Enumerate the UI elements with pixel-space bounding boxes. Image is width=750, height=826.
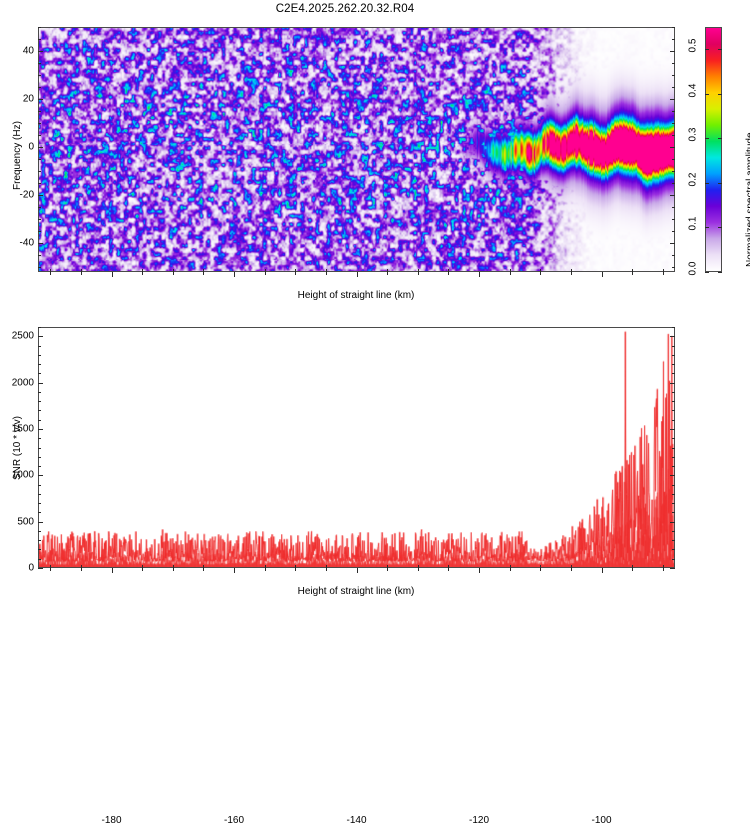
- x-minor-tick: [295, 272, 296, 275]
- y-minor-tick: [38, 364, 41, 365]
- x-tick-label: -160: [224, 815, 244, 826]
- snr-y-axis-title: SNR (10 * v/v): [12, 416, 23, 480]
- y-major-tick: [38, 336, 43, 337]
- y-major-tick: [670, 522, 675, 523]
- y-minor-tick: [672, 171, 675, 172]
- x-minor-tick: [418, 272, 419, 275]
- y-minor-tick: [672, 27, 675, 28]
- colorbar-tick: [705, 272, 709, 273]
- y-minor-tick: [672, 392, 675, 393]
- y-tick-label: 20: [6, 94, 34, 105]
- x-minor-tick: [418, 269, 419, 272]
- y-minor-tick: [38, 39, 41, 40]
- y-major-tick: [38, 383, 43, 384]
- y-tick-label: 2000: [6, 377, 34, 388]
- y-minor-tick: [38, 346, 41, 347]
- y-minor-tick: [672, 87, 675, 88]
- colorbar-tick: [718, 94, 722, 95]
- colorbar-tick-label: 0.1: [688, 214, 699, 234]
- colorbar-tick: [718, 49, 722, 50]
- x-minor-tick: [142, 272, 143, 275]
- y-major-tick: [670, 51, 675, 52]
- x-minor-tick: [326, 565, 327, 568]
- x-minor-tick: [173, 568, 174, 571]
- y-minor-tick: [38, 401, 41, 402]
- y-minor-tick: [38, 159, 41, 160]
- x-minor-tick: [50, 568, 51, 571]
- y-major-tick: [38, 429, 43, 430]
- spectrogram-image: [39, 28, 674, 271]
- x-major-tick: [112, 568, 113, 573]
- y-tick-label: 0: [6, 563, 34, 574]
- x-major-tick: [479, 272, 480, 277]
- y-major-tick: [670, 383, 675, 384]
- colorbar-tick: [718, 183, 722, 184]
- x-minor-tick: [81, 565, 82, 568]
- x-minor-tick: [663, 269, 664, 272]
- y-minor-tick: [38, 531, 41, 532]
- y-minor-tick: [672, 466, 675, 467]
- x-minor-tick: [295, 568, 296, 571]
- y-minor-tick: [38, 219, 41, 220]
- y-minor-tick: [38, 87, 41, 88]
- y-tick-label: -40: [6, 238, 34, 249]
- colorbar-tick: [705, 227, 709, 228]
- x-minor-tick: [142, 565, 143, 568]
- y-minor-tick: [672, 355, 675, 356]
- colorbar-tick-label: 0.5: [688, 36, 699, 56]
- y-minor-tick: [672, 503, 675, 504]
- colorbar-title: Normalized spectral amplitude: [745, 132, 750, 267]
- figure-canvas: C2E4.2025.262.20.32.R04 -180-160-140-120…: [0, 0, 750, 600]
- x-major-tick: [234, 568, 235, 573]
- x-minor-tick: [510, 272, 511, 275]
- colorbar-tick: [705, 94, 709, 95]
- y-minor-tick: [672, 63, 675, 64]
- x-minor-tick: [295, 565, 296, 568]
- y-major-tick: [38, 243, 43, 244]
- x-minor-tick: [50, 565, 51, 568]
- y-major-tick: [38, 99, 43, 100]
- y-minor-tick: [38, 255, 41, 256]
- colorbar-tick: [718, 227, 722, 228]
- y-minor-tick: [38, 355, 41, 356]
- y-major-tick: [670, 147, 675, 148]
- x-major-tick: [357, 568, 358, 573]
- colorbar-group: 0.00.10.20.30.40.5 Normalized spectral a…: [705, 27, 750, 272]
- x-minor-tick: [448, 269, 449, 272]
- x-minor-tick: [173, 269, 174, 272]
- y-minor-tick: [38, 559, 41, 560]
- y-minor-tick: [38, 457, 41, 458]
- x-major-tick: [357, 272, 358, 277]
- x-tick-label: -140: [346, 815, 366, 826]
- y-minor-tick: [38, 123, 41, 124]
- y-minor-tick: [38, 494, 41, 495]
- x-minor-tick: [448, 568, 449, 571]
- y-minor-tick: [38, 512, 41, 513]
- x-major-tick: [602, 272, 603, 277]
- x-minor-tick: [326, 269, 327, 272]
- colorbar-tick-label: 0.0: [688, 259, 699, 279]
- y-minor-tick: [672, 183, 675, 184]
- spectrogram-plot-area: [38, 27, 675, 272]
- x-minor-tick: [632, 568, 633, 571]
- spectrogram-y-axis-title: Frequency (Hz): [12, 121, 23, 190]
- colorbar-tick: [718, 272, 722, 273]
- x-minor-tick: [510, 565, 511, 568]
- y-tick-label: 2500: [6, 331, 34, 342]
- y-minor-tick: [38, 63, 41, 64]
- y-tick-label: -20: [6, 190, 34, 201]
- x-minor-tick: [571, 269, 572, 272]
- y-minor-tick: [38, 207, 41, 208]
- spectrogram-panel: -180-160-140-120-100 -40-2002040: [38, 27, 675, 272]
- x-minor-tick: [663, 565, 664, 568]
- y-minor-tick: [38, 410, 41, 411]
- y-minor-tick: [38, 267, 41, 268]
- x-minor-tick: [418, 565, 419, 568]
- y-minor-tick: [672, 327, 675, 328]
- y-minor-tick: [38, 231, 41, 232]
- snr-line-series: [39, 328, 674, 567]
- y-minor-tick: [38, 503, 41, 504]
- colorbar-tick: [705, 49, 709, 50]
- y-minor-tick: [672, 231, 675, 232]
- x-major-tick: [112, 272, 113, 277]
- x-minor-tick: [173, 272, 174, 275]
- x-minor-tick: [663, 568, 664, 571]
- x-tick-label: -120: [469, 815, 489, 826]
- x-minor-tick: [81, 568, 82, 571]
- y-tick-label: 500: [6, 516, 34, 527]
- y-minor-tick: [672, 346, 675, 347]
- x-minor-tick: [632, 272, 633, 275]
- y-minor-tick: [672, 111, 675, 112]
- spectrogram-x-axis-title: Height of straight line (km): [298, 290, 415, 301]
- y-major-tick: [670, 429, 675, 430]
- x-minor-tick: [418, 568, 419, 571]
- y-minor-tick: [38, 111, 41, 112]
- y-minor-tick: [672, 123, 675, 124]
- y-minor-tick: [672, 135, 675, 136]
- x-minor-tick: [387, 565, 388, 568]
- x-minor-tick: [632, 269, 633, 272]
- x-minor-tick: [265, 272, 266, 275]
- colorbar-tick: [705, 138, 709, 139]
- y-minor-tick: [38, 485, 41, 486]
- x-minor-tick: [387, 568, 388, 571]
- y-major-tick: [670, 99, 675, 100]
- colorbar-tick-label: 0.4: [688, 80, 699, 100]
- y-minor-tick: [38, 420, 41, 421]
- x-minor-tick: [387, 269, 388, 272]
- y-major-tick: [670, 475, 675, 476]
- x-minor-tick: [326, 568, 327, 571]
- y-minor-tick: [672, 39, 675, 40]
- x-minor-tick: [50, 272, 51, 275]
- y-minor-tick: [672, 494, 675, 495]
- x-minor-tick: [81, 269, 82, 272]
- x-minor-tick: [142, 568, 143, 571]
- y-minor-tick: [672, 373, 675, 374]
- y-minor-tick: [38, 448, 41, 449]
- x-minor-tick: [571, 568, 572, 571]
- colorbar-tick-label: 0.2: [688, 169, 699, 189]
- y-major-tick: [38, 475, 43, 476]
- y-minor-tick: [38, 373, 41, 374]
- y-major-tick: [38, 51, 43, 52]
- x-major-tick: [602, 568, 603, 573]
- x-minor-tick: [448, 272, 449, 275]
- y-minor-tick: [672, 267, 675, 268]
- y-minor-tick: [672, 540, 675, 541]
- x-minor-tick: [203, 568, 204, 571]
- y-minor-tick: [38, 135, 41, 136]
- y-minor-tick: [672, 75, 675, 76]
- colorbar-tick: [718, 138, 722, 139]
- x-minor-tick: [510, 269, 511, 272]
- y-minor-tick: [38, 392, 41, 393]
- x-minor-tick: [326, 272, 327, 275]
- x-minor-tick: [571, 565, 572, 568]
- snr-plot-area: [38, 327, 675, 568]
- y-minor-tick: [672, 485, 675, 486]
- y-major-tick: [38, 147, 43, 148]
- x-minor-tick: [540, 568, 541, 571]
- x-minor-tick: [663, 272, 664, 275]
- y-minor-tick: [38, 171, 41, 172]
- y-major-tick: [670, 195, 675, 196]
- y-major-tick: [38, 568, 43, 569]
- y-minor-tick: [672, 410, 675, 411]
- y-tick-label: 40: [6, 46, 34, 57]
- colorbar-tick: [705, 183, 709, 184]
- y-major-tick: [670, 243, 675, 244]
- x-minor-tick: [265, 568, 266, 571]
- x-minor-tick: [50, 269, 51, 272]
- x-minor-tick: [203, 272, 204, 275]
- x-minor-tick: [203, 565, 204, 568]
- y-major-tick: [38, 195, 43, 196]
- y-minor-tick: [672, 364, 675, 365]
- y-minor-tick: [672, 207, 675, 208]
- x-minor-tick: [173, 565, 174, 568]
- x-minor-tick: [203, 269, 204, 272]
- x-tick-label: -100: [591, 815, 611, 826]
- y-minor-tick: [672, 438, 675, 439]
- x-minor-tick: [510, 568, 511, 571]
- snr-panel: -180-160-140-120-100 0500100015002000250…: [38, 327, 675, 568]
- x-minor-tick: [448, 565, 449, 568]
- y-minor-tick: [672, 549, 675, 550]
- x-minor-tick: [295, 269, 296, 272]
- x-minor-tick: [632, 565, 633, 568]
- y-minor-tick: [672, 559, 675, 560]
- x-minor-tick: [142, 269, 143, 272]
- y-minor-tick: [38, 438, 41, 439]
- y-major-tick: [670, 336, 675, 337]
- colorbar-scale: [705, 27, 722, 272]
- y-minor-tick: [672, 512, 675, 513]
- y-major-tick: [38, 522, 43, 523]
- y-minor-tick: [672, 457, 675, 458]
- y-minor-tick: [38, 27, 41, 28]
- page-title: C2E4.2025.262.20.32.R04: [0, 3, 690, 15]
- y-major-tick: [670, 568, 675, 569]
- x-tick-label: -180: [101, 815, 121, 826]
- x-minor-tick: [540, 565, 541, 568]
- y-minor-tick: [672, 448, 675, 449]
- y-minor-tick: [672, 219, 675, 220]
- y-minor-tick: [672, 159, 675, 160]
- x-minor-tick: [265, 565, 266, 568]
- y-minor-tick: [38, 327, 41, 328]
- x-minor-tick: [540, 269, 541, 272]
- x-minor-tick: [81, 272, 82, 275]
- x-minor-tick: [387, 272, 388, 275]
- y-minor-tick: [38, 540, 41, 541]
- x-minor-tick: [540, 272, 541, 275]
- y-minor-tick: [38, 466, 41, 467]
- snr-x-axis-title: Height of straight line (km): [298, 586, 415, 597]
- x-major-tick: [234, 272, 235, 277]
- y-minor-tick: [672, 420, 675, 421]
- y-minor-tick: [38, 183, 41, 184]
- y-minor-tick: [672, 255, 675, 256]
- colorbar-gradient: [706, 28, 721, 271]
- y-minor-tick: [38, 75, 41, 76]
- y-minor-tick: [672, 531, 675, 532]
- colorbar-tick-label: 0.3: [688, 125, 699, 145]
- y-minor-tick: [38, 549, 41, 550]
- x-minor-tick: [571, 272, 572, 275]
- x-minor-tick: [265, 269, 266, 272]
- x-major-tick: [479, 568, 480, 573]
- y-minor-tick: [672, 401, 675, 402]
